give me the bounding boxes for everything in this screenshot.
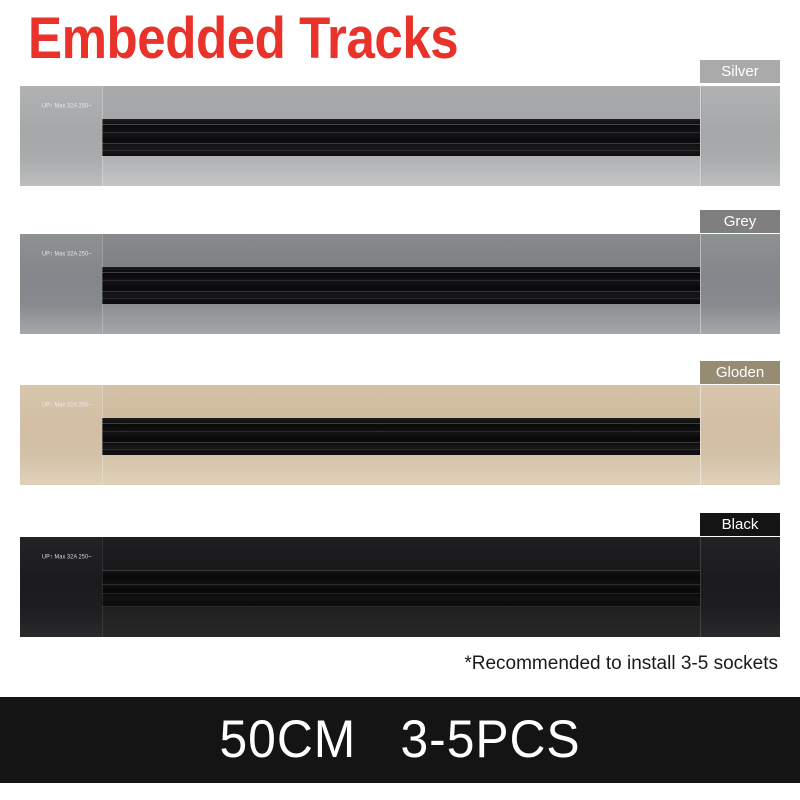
slot-surface [102,570,700,607]
track-channel [102,234,700,334]
track-bar-black: UP↑ Max 32A 250~ [20,537,780,637]
conductor-rail [102,423,700,424]
product-image-root: { "title": "Embedded Tracks", "accent_co… [0,0,800,800]
conductor-slot [102,267,700,304]
conductor-rail [102,442,700,443]
conductor-rail [102,143,700,144]
conductor-slot [102,119,700,156]
conductor-rail [102,298,700,299]
conductor-rail [102,132,700,133]
rating-label: UP↑ Max 32A 250~ [42,251,92,259]
track-bar-gloden: UP↑ Max 32A 250~ [20,385,780,485]
color-badge-silver: Silver [700,60,780,83]
end-cap-seam-right [700,234,701,334]
track-bar-grey: UP↑ Max 32A 250~ [20,234,780,334]
end-cap-seam-left [102,234,103,334]
page-title: Embedded Tracks [28,8,458,70]
conductor-rail [102,291,700,292]
rating-label: UP↑ Max 32A 250~ [42,402,92,410]
conductor-rail [102,280,700,281]
track-channel [102,537,700,637]
conductor-rail [102,150,700,151]
spec-banner: 50CM 3-5PCS [0,697,800,783]
rating-label: UP↑ Max 32A 250~ [42,554,92,562]
color-badge-grey: Grey [700,210,780,233]
conductor-rail [102,449,700,450]
conductor-rail [102,431,700,432]
end-cap-seam-left [102,537,103,637]
end-cap-seam-left [102,385,103,485]
installation-note: *Recommended to install 3-5 sockets [464,652,778,676]
track-channel [102,385,700,485]
color-badge-gloden: Gloden [700,361,780,384]
conductor-rail [102,272,700,273]
color-badge-black: Black [700,513,780,536]
conductor-slot [102,570,700,607]
track-channel [102,86,700,186]
conductor-rail [102,124,700,125]
conductor-rail [102,584,700,585]
end-cap-seam-left [102,86,103,186]
spec-banner-text: 50CM 3-5PCS [219,712,580,768]
track-bar-silver: UP↑ Max 32A 250~ [20,86,780,186]
rating-label: UP↑ Max 32A 250~ [42,103,92,111]
end-cap-seam-right [700,385,701,485]
conductor-rail [102,593,700,594]
end-cap-seam-right [700,537,701,637]
end-cap-seam-right [700,86,701,186]
slot-surface [102,119,700,156]
slot-surface [102,418,700,455]
slot-surface [102,267,700,304]
conductor-slot [102,418,700,455]
